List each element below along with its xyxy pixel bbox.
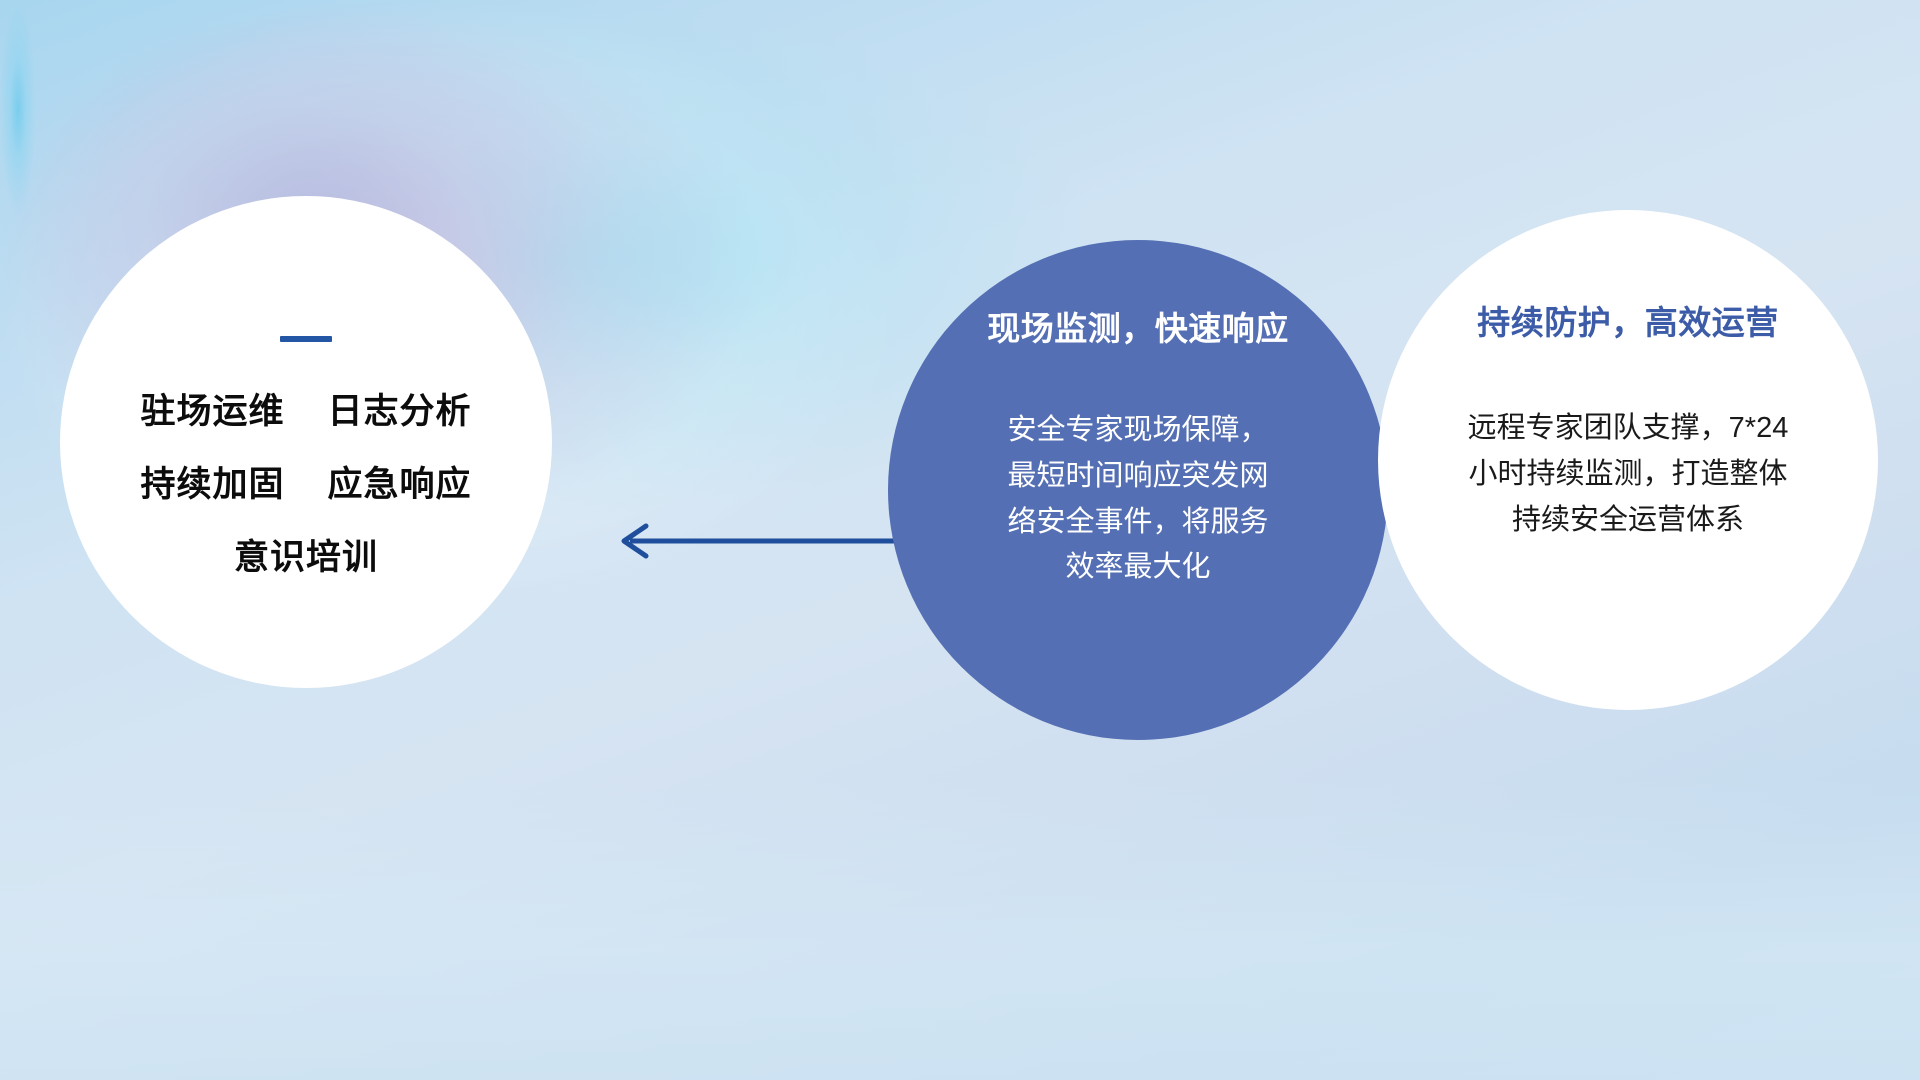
middle-circle-heading: 现场监测，快速响应 xyxy=(987,302,1289,350)
capability-circle-left: 驻场运维 日志分析 持续加固 应急响应 意识培训 xyxy=(60,196,552,688)
capability-circle-middle: 现场监测，快速响应 安全专家现场保障， 最短时间响应突发网 络安全事件，将服务 … xyxy=(888,240,1388,740)
left-circle-line-3: 意识培训 xyxy=(234,540,378,575)
flow-arrow-left-icon xyxy=(608,516,908,566)
slide-canvas: 驻场运维 日志分析 持续加固 应急响应 意识培训 现场监测，快速响应 安全专家现… xyxy=(0,0,1920,1080)
capability-circle-right: 持续防护，高效运营 远程专家团队支撑，7*24 小时持续监测，打造整体 持续安全… xyxy=(1378,210,1878,710)
left-circle-divider xyxy=(280,336,332,342)
middle-circle-body-text: 安全专家现场保障， 最短时间响应突发网 络安全事件，将服务 效率最大化 xyxy=(973,408,1303,591)
right-circle-body-text: 远程专家团队支撑，7*24 小时持续监测，打造整体 持续安全运营体系 xyxy=(1428,406,1828,543)
left-circle-line-1: 驻场运维 日志分析 xyxy=(141,394,472,429)
right-circle-heading: 持续防护，高效运营 xyxy=(1477,296,1779,344)
left-circle-line-2: 持续加固 应急响应 xyxy=(141,467,472,502)
